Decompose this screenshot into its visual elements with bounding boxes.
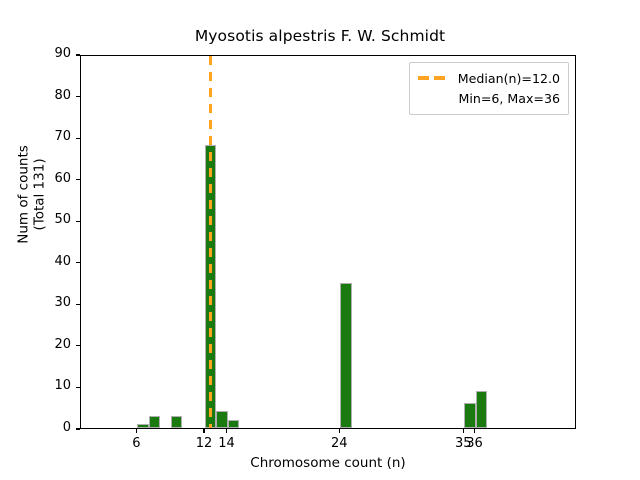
x-axis-tick-mark xyxy=(463,429,464,433)
y-axis-tick-label: 60 xyxy=(54,171,71,186)
x-axis-tick-label: 36 xyxy=(466,436,483,451)
x-axis-tick-mark xyxy=(226,429,227,433)
x-axis-tick-mark xyxy=(474,429,475,433)
y-axis-tick-label: 80 xyxy=(54,88,71,103)
x-axis-label: Chromosome count (n) xyxy=(80,455,576,471)
chart-title: Myosotis alpestris F. W. Schmidt xyxy=(0,27,640,45)
x-axis-tick-label: 14 xyxy=(218,436,235,451)
bar xyxy=(137,424,148,428)
x-axis-tick-mark xyxy=(339,429,340,433)
x-axis-tick-mark xyxy=(203,429,204,433)
legend-label: Median(n)=12.0 xyxy=(458,71,560,86)
y-axis-tick-label: 40 xyxy=(54,254,71,269)
bar xyxy=(476,391,487,428)
legend-label: Min=6, Max=36 xyxy=(458,91,560,106)
y-axis-tick-label: 70 xyxy=(54,129,71,144)
x-axis-tick-label: 24 xyxy=(331,436,348,451)
plot-area: Median(n)=12.0 Min=6, Max=36 xyxy=(80,55,576,429)
x-axis-tick-label: 6 xyxy=(132,436,140,451)
y-axis-tick-label: 10 xyxy=(54,378,71,393)
median-line-swatch-icon xyxy=(418,72,449,84)
y-axis-tick-label: 50 xyxy=(54,212,71,227)
y-axis-tick-label: 30 xyxy=(54,295,71,310)
bar xyxy=(149,416,160,428)
chart-legend: Median(n)=12.0 Min=6, Max=36 xyxy=(409,62,569,115)
median-line xyxy=(209,56,213,428)
y-axis-tick-label: 20 xyxy=(54,337,71,352)
bar xyxy=(340,283,351,428)
legend-item: Min=6, Max=36 xyxy=(418,88,560,108)
bar xyxy=(171,416,182,428)
y-axis-tick-label: 90 xyxy=(54,46,71,61)
x-axis-tick-mark xyxy=(136,429,137,433)
y-axis-ticks: 0102030405060708090 xyxy=(0,55,80,429)
x-axis-tick-label: 12 xyxy=(196,436,213,451)
bar xyxy=(464,403,475,428)
bar xyxy=(228,420,239,428)
y-axis-tick-label: 0 xyxy=(63,420,71,435)
chart-figure: Myosotis alpestris F. W. Schmidt Num of … xyxy=(0,0,640,480)
legend-item: Median(n)=12.0 xyxy=(418,68,560,88)
bar xyxy=(216,411,227,428)
